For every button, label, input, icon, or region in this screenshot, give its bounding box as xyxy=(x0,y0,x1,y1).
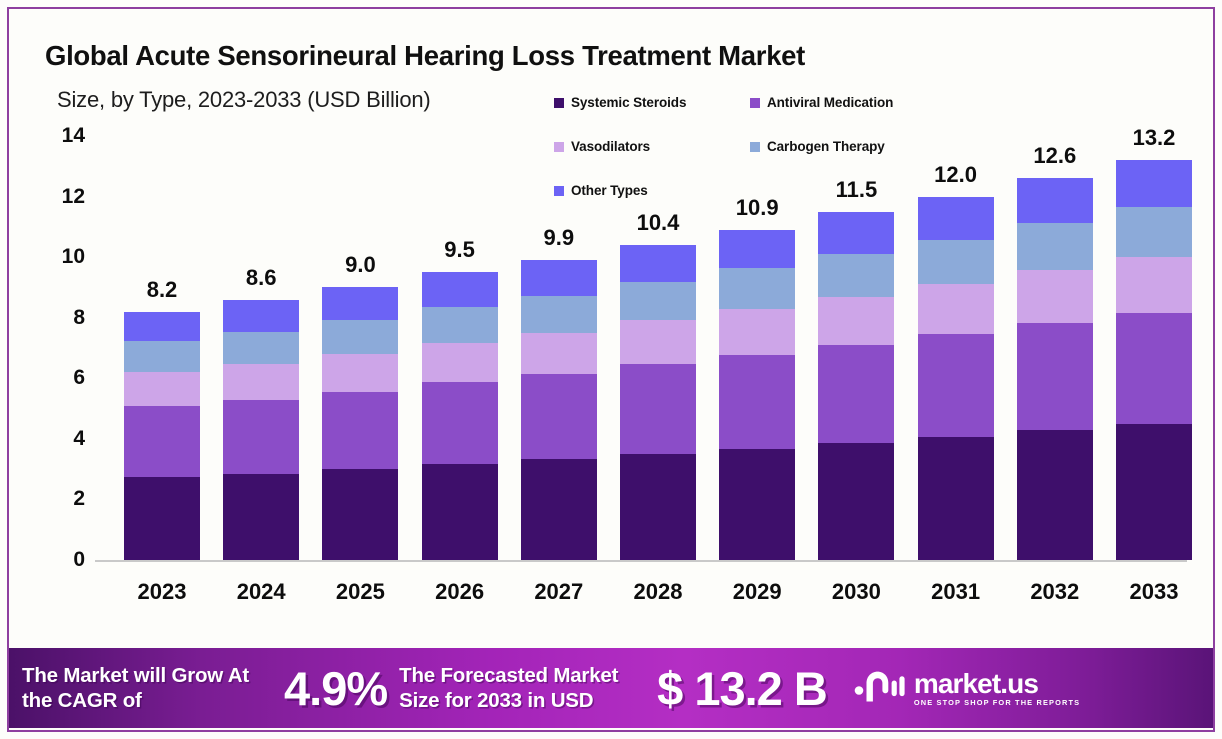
forecast-caption: The Forecasted Market Size for 2033 in U… xyxy=(399,663,649,713)
bar-segment[interactable] xyxy=(223,474,299,560)
y-axis-tick: 8 xyxy=(39,306,85,330)
bar-segment[interactable] xyxy=(620,282,696,320)
stacked-bar[interactable] xyxy=(818,212,894,560)
market-us-wordmark: market.us ONE STOP SHOP FOR THE REPORTS xyxy=(914,669,1080,708)
bar-segment[interactable] xyxy=(124,372,200,406)
bar-segment[interactable] xyxy=(1116,207,1192,256)
bar-segment[interactable] xyxy=(1017,430,1093,560)
bar-group: 12.02031 xyxy=(918,9,994,730)
stacked-bar[interactable] xyxy=(1017,178,1093,560)
bar-segment[interactable] xyxy=(223,300,299,332)
bar-segment[interactable] xyxy=(422,382,498,464)
bar-segment[interactable] xyxy=(620,320,696,364)
bar-group: 8.22023 xyxy=(124,9,200,730)
bar-segment[interactable] xyxy=(818,443,894,560)
bar-segment[interactable] xyxy=(1116,424,1192,560)
plot-area: 024681012148.220238.620249.020259.520269… xyxy=(9,9,1213,730)
chart-canvas: Global Acute Sensorineural Hearing Loss … xyxy=(9,9,1213,730)
market-us-logo[interactable]: market.us ONE STOP SHOP FOR THE REPORTS xyxy=(853,669,1080,708)
bar-segment[interactable] xyxy=(1017,178,1093,223)
stacked-bar[interactable] xyxy=(521,260,597,560)
bar-segment[interactable] xyxy=(1017,323,1093,430)
bar-group: 9.52026 xyxy=(422,9,498,730)
bar-segment[interactable] xyxy=(124,406,200,477)
bar-segment[interactable] xyxy=(918,240,994,285)
bar-segment[interactable] xyxy=(1017,270,1093,323)
bar-segment[interactable] xyxy=(521,374,597,459)
y-axis-tick: 14 xyxy=(39,124,85,148)
bar-group: 12.62032 xyxy=(1017,9,1093,730)
bar-segment[interactable] xyxy=(818,297,894,345)
bar-segment[interactable] xyxy=(422,272,498,307)
bar-group: 11.52030 xyxy=(818,9,894,730)
y-axis-tick: 10 xyxy=(39,245,85,269)
bar-segment[interactable] xyxy=(223,364,299,400)
bar-segment[interactable] xyxy=(918,284,994,334)
bar-segment[interactable] xyxy=(719,449,795,560)
logo-name: market.us xyxy=(914,669,1080,698)
bar-segment[interactable] xyxy=(1116,257,1192,313)
bar-segment[interactable] xyxy=(124,312,200,341)
bar-segment[interactable] xyxy=(322,354,398,392)
bar-segment[interactable] xyxy=(322,392,398,469)
bar-segment[interactable] xyxy=(918,437,994,560)
y-axis-tick: 0 xyxy=(39,548,85,572)
cagr-caption: The Market will Grow At the CAGR of xyxy=(22,663,284,713)
stacked-bar[interactable] xyxy=(918,197,994,560)
logo-tagline: ONE STOP SHOP FOR THE REPORTS xyxy=(914,698,1080,708)
bar-segment[interactable] xyxy=(918,334,994,437)
bar-segment[interactable] xyxy=(223,400,299,474)
market-us-mark-icon xyxy=(853,670,905,706)
bar-group: 8.62024 xyxy=(223,9,299,730)
bar-segment[interactable] xyxy=(719,309,795,355)
bar-segment[interactable] xyxy=(1116,160,1192,207)
bar-segment[interactable] xyxy=(422,307,498,342)
bar-segment[interactable] xyxy=(422,343,498,382)
bar-segment[interactable] xyxy=(521,260,597,296)
bar-group: 10.42028 xyxy=(620,9,696,730)
footer-banner: The Market will Grow At the CAGR of 4.9%… xyxy=(9,648,1213,728)
bar-segment[interactable] xyxy=(521,296,597,333)
bar-segment[interactable] xyxy=(719,355,795,449)
x-axis-tick-label: 2033 xyxy=(1094,579,1213,605)
y-axis-tick: 2 xyxy=(39,487,85,511)
y-axis-tick: 12 xyxy=(39,185,85,209)
bar-segment[interactable] xyxy=(124,341,200,372)
bar-segment[interactable] xyxy=(1017,223,1093,270)
bar-segment[interactable] xyxy=(1116,313,1192,424)
stacked-bar[interactable] xyxy=(719,230,795,560)
bar-segment[interactable] xyxy=(620,454,696,560)
stacked-bar[interactable] xyxy=(620,245,696,560)
stacked-bar[interactable] xyxy=(422,272,498,560)
bar-segment[interactable] xyxy=(818,254,894,297)
bar-segment[interactable] xyxy=(223,332,299,364)
stacked-bar[interactable] xyxy=(223,300,299,560)
stacked-bar[interactable] xyxy=(1116,160,1192,560)
bar-group: 13.22033 xyxy=(1116,9,1192,730)
bar-segment[interactable] xyxy=(818,345,894,443)
bar-segment[interactable] xyxy=(322,469,398,560)
stacked-bar[interactable] xyxy=(322,287,398,560)
cagr-value: 4.9% xyxy=(284,661,387,716)
bar-segment[interactable] xyxy=(719,268,795,308)
bar-segment[interactable] xyxy=(818,212,894,254)
forecast-value: $ 13.2 B xyxy=(657,661,827,716)
infographic-root: Global Acute Sensorineural Hearing Loss … xyxy=(0,0,1222,739)
bar-group: 9.92027 xyxy=(521,9,597,730)
bar-segment[interactable] xyxy=(322,320,398,353)
bar-segment[interactable] xyxy=(620,245,696,282)
stacked-bar[interactable] xyxy=(124,312,200,560)
bar-segment[interactable] xyxy=(422,464,498,560)
bar-segment[interactable] xyxy=(620,364,696,454)
bar-group: 10.92029 xyxy=(719,9,795,730)
bar-value-label: 13.2 xyxy=(1094,125,1213,151)
y-axis-tick: 6 xyxy=(39,366,85,390)
bar-segment[interactable] xyxy=(322,287,398,320)
bar-segment[interactable] xyxy=(521,333,597,374)
bar-segment[interactable] xyxy=(918,197,994,240)
bar-segment[interactable] xyxy=(124,477,200,560)
bar-segment[interactable] xyxy=(719,230,795,268)
y-axis-tick: 4 xyxy=(39,427,85,451)
bar-group: 9.02025 xyxy=(322,9,398,730)
bar-segment[interactable] xyxy=(521,459,597,560)
